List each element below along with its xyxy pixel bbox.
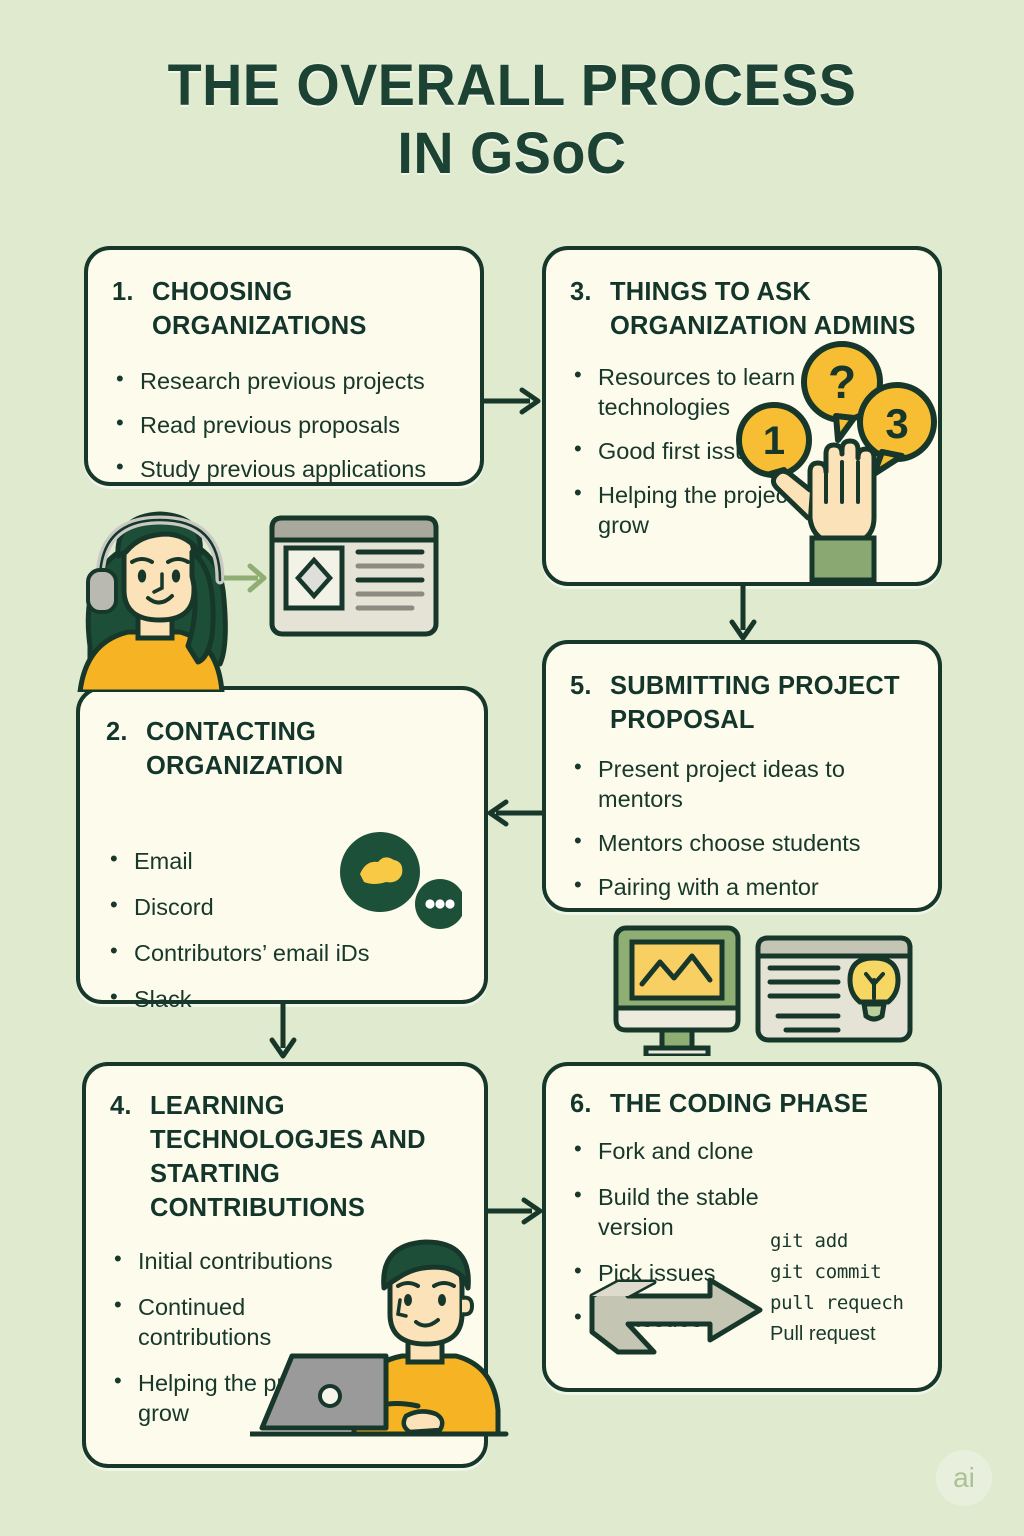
bubble-1-label: 1 <box>763 419 785 463</box>
list-item: Pairing with a mentor <box>570 872 916 902</box>
step-card-learning-technologies: 4. LEARNING TECHNOLOGJES AND STARTING CO… <box>82 1062 488 1468</box>
git-command-add: git add <box>770 1226 920 1257</box>
card-1-heading-text: CHOOSING ORGANIZATIONS <box>152 278 367 340</box>
card-5-bullet-list: Present project ideas to mentors Mentors… <box>570 754 916 902</box>
page-title: THE OVERALL PROCESS IN GSoC <box>20 52 1003 189</box>
card-1-heading: 1. CHOOSING ORGANIZATIONS <box>112 276 458 344</box>
list-item: Contributors’ email iDs <box>106 938 462 968</box>
step-card-choosing-organizations: 1. CHOOSING ORGANIZATIONS Research previ… <box>84 246 484 486</box>
ai-watermark: ai <box>936 1450 992 1506</box>
card-4-number: 4. <box>110 1090 132 1124</box>
bubble-question-label: ? <box>828 356 856 408</box>
step-card-submitting-project-proposal: 5. SUBMITTING PROJECT PROPOSAL Present p… <box>542 640 942 912</box>
step-card-contacting-organization: 2. CONTACTING ORGANIZATION Email Discord… <box>76 686 488 1004</box>
card-4-heading: 4. LEARNING TECHNOLOGJES AND STARTING CO… <box>110 1090 462 1226</box>
card-6-heading: 6. THE CODING PHASE <box>570 1088 916 1122</box>
card-4-heading-text: LEARNING TECHNOLOGJES AND STARTING CONTR… <box>150 1092 426 1222</box>
arrow-card4-to-card6 <box>488 1194 546 1228</box>
list-item: Build the stable version <box>570 1182 790 1242</box>
monitor-and-idea-illustration <box>606 922 918 1056</box>
document-panel-icon <box>758 938 910 1040</box>
card-6-heading-text: THE CODING PHASE <box>610 1090 868 1118</box>
card-6-number: 6. <box>570 1088 592 1122</box>
list-item: Present project ideas to mentors <box>570 754 916 814</box>
list-item: Fork and clone <box>570 1136 790 1166</box>
list-item: Read previous proposals <box>112 410 458 440</box>
step-card-coding-phase: 6. THE CODING PHASE Fork and clone Build… <box>542 1062 942 1392</box>
raised-hand-illustration: 1 ? 3 <box>732 322 942 582</box>
person-at-laptop-illustration <box>250 1228 510 1458</box>
card-2-heading: 2. CONTACTING ORGANIZATION <box>106 716 462 784</box>
card-1-bullet-list: Research previous projects Read previous… <box>112 366 458 484</box>
card-5-heading: 5. SUBMITTING PROJECT PROPOSAL <box>570 670 916 738</box>
list-item: Study previous applications <box>112 454 458 484</box>
git-command-commit: git commit <box>770 1257 920 1288</box>
list-item: Mentors choose students <box>570 828 916 858</box>
page-title-line-1: THE OVERALL PROCESS <box>168 53 857 118</box>
progress-arrow-illustration <box>588 1272 768 1362</box>
card-3-number: 3. <box>570 276 592 310</box>
page-title-line-2: IN GSoC <box>20 120 1003 188</box>
git-commands-block: git add git commit pull requech Pull req… <box>770 1226 920 1351</box>
monitor-icon <box>616 928 738 1056</box>
card-5-heading-text: SUBMITTING PROJECT PROPOSAL <box>610 672 900 734</box>
step-card-things-to-ask-admins: 3. THINGS TO ASK ORGANIZATION ADMINS Res… <box>542 246 942 586</box>
chat-icons-illustration <box>332 830 462 930</box>
browser-window-icon <box>272 518 436 634</box>
arrow-card3-to-card5 <box>726 586 760 644</box>
researcher-and-browser-illustration <box>72 496 472 692</box>
arrow-card1-to-card3 <box>484 384 544 418</box>
card-1-number: 1. <box>112 276 134 310</box>
arrow-card2-to-card4 <box>266 1004 300 1062</box>
ai-watermark-label: ai <box>953 1462 975 1494</box>
card-5-number: 5. <box>570 670 592 704</box>
list-item: Research previous projects <box>112 366 458 396</box>
card-2-number: 2. <box>106 716 128 750</box>
bubble-3-label: 3 <box>885 400 908 447</box>
arrow-card5-to-card2 <box>486 796 544 830</box>
card-2-heading-text: CONTACTING ORGANIZATION <box>146 718 343 780</box>
small-arrow-icon <box>224 566 264 590</box>
git-command-pull-request: Pull request <box>770 1318 920 1350</box>
git-command-pull-requech: pull requech <box>770 1288 920 1319</box>
